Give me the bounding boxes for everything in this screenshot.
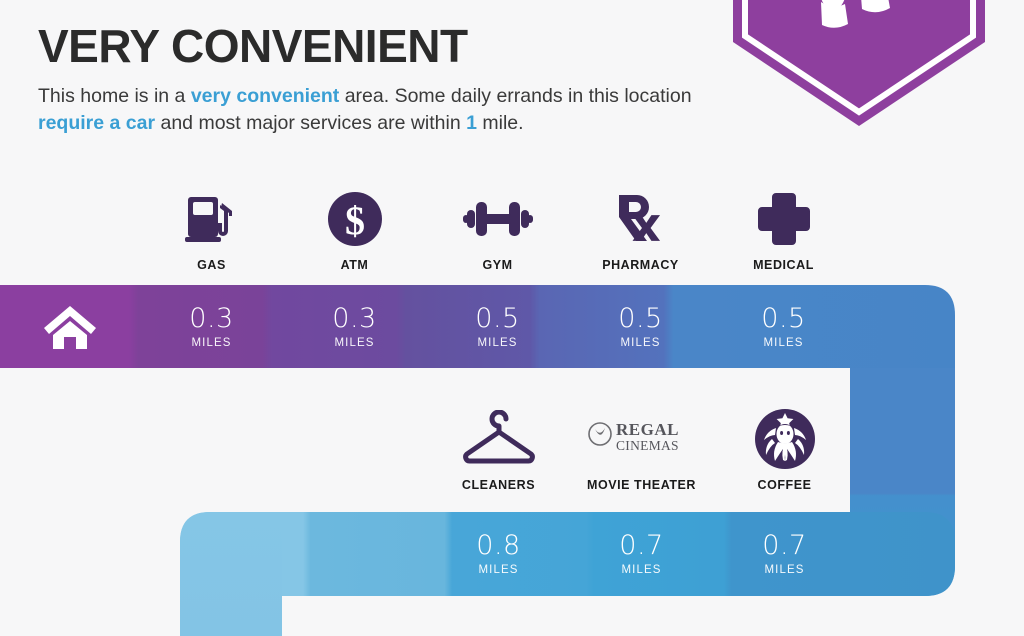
subtitle-text: area. Some daily errands in this locatio…: [339, 85, 691, 107]
distance-value: 0.5: [761, 305, 805, 332]
service-label: GAS: [197, 258, 226, 272]
footprints-badge: [733, 0, 985, 126]
gas-pump-icon: [182, 187, 242, 251]
distance-value: 0.3: [332, 305, 376, 332]
distance-unit: MILES: [763, 337, 803, 349]
distance-unit: MILES: [334, 337, 374, 349]
distance-unit: MILES: [764, 564, 804, 576]
distance-unit: MILES: [191, 337, 231, 349]
regal-cinemas-logo: REGAL CINEMAS: [586, 407, 698, 471]
service-icon-medical: MEDICAL: [712, 180, 855, 272]
service-icon-coffee: COFFEE: [713, 400, 856, 492]
distance-row-bottom: 0.8 MILES 0.7 MILES 0.7 MILES: [427, 512, 856, 596]
service-icon-cleaners: CLEANERS: [427, 400, 570, 492]
medical-cross-icon: [756, 187, 812, 251]
page-subtitle: This home is in a very convenient area. …: [38, 83, 738, 137]
distance-unit: MILES: [621, 564, 661, 576]
distance-cell-pharmacy: 0.5 MILES: [569, 285, 712, 369]
distance-value: 0.7: [619, 532, 663, 559]
distance-value: 0.3: [189, 305, 233, 332]
service-icon-movie-theater: REGAL CINEMAS MOVIE THEATER: [570, 400, 713, 492]
svg-text:$: $: [345, 198, 365, 243]
service-icon-pharmacy: PHARMACY: [569, 180, 712, 272]
subtitle-highlight: very convenient: [191, 85, 339, 107]
distance-cell-gym: 0.5 MILES: [426, 285, 569, 369]
clothes-hanger-icon: [459, 407, 539, 471]
service-icon-row-bottom: CLEANERS REGAL CINEMAS MOVIE THEATER: [427, 400, 856, 492]
service-icon-gas: GAS: [140, 180, 283, 272]
home-icon: [0, 285, 140, 369]
distance-value: 0.8: [476, 532, 520, 559]
service-label: MEDICAL: [753, 258, 814, 272]
starbucks-logo: [754, 407, 816, 471]
service-label: PHARMACY: [602, 258, 679, 272]
subtitle-text: This home is in a: [38, 85, 191, 107]
badge-shape: [733, 0, 985, 126]
service-label: COFFEE: [758, 478, 812, 492]
subtitle-text: mile.: [477, 112, 524, 134]
subtitle-text: and most major services are within: [155, 112, 466, 134]
atm-dollar-icon: $: [326, 187, 384, 251]
page-title: VERY CONVENIENT: [38, 22, 738, 70]
service-icon-gym: GYM: [426, 180, 569, 272]
distance-value: 0.5: [618, 305, 662, 332]
distance-cell-atm: 0.3 MILES: [283, 285, 426, 369]
distance-cell-cleaners: 0.8 MILES: [427, 512, 570, 596]
distance-unit: MILES: [477, 337, 517, 349]
distance-unit: MILES: [620, 337, 660, 349]
distance-value: 0.5: [475, 305, 519, 332]
subtitle-highlight: 1: [466, 112, 477, 134]
header: VERY CONVENIENT This home is in a very c…: [38, 22, 738, 137]
svg-text:REGAL: REGAL: [616, 420, 679, 439]
service-label: ATM: [341, 258, 369, 272]
service-label: MOVIE THEATER: [587, 478, 696, 492]
dumbbell-icon: [463, 187, 533, 251]
distance-cell-gas: 0.3 MILES: [140, 285, 283, 369]
svg-text:CINEMAS: CINEMAS: [616, 438, 679, 453]
service-icon-atm: $ ATM: [283, 180, 426, 272]
service-label: CLEANERS: [462, 478, 535, 492]
rx-icon: [611, 187, 671, 251]
distance-row-top: 0.3 MILES 0.3 MILES 0.5 MILES 0.5 MILES …: [140, 285, 855, 369]
distance-cell-medical: 0.5 MILES: [712, 285, 855, 369]
distance-cell-movie-theater: 0.7 MILES: [570, 512, 713, 596]
subtitle-highlight: require a car: [38, 112, 155, 134]
distance-cell-coffee: 0.7 MILES: [713, 512, 856, 596]
service-label: GYM: [482, 258, 512, 272]
service-icon-row-top: GAS $ ATM GYM: [140, 180, 855, 272]
distance-unit: MILES: [478, 564, 518, 576]
distance-value: 0.7: [762, 532, 806, 559]
